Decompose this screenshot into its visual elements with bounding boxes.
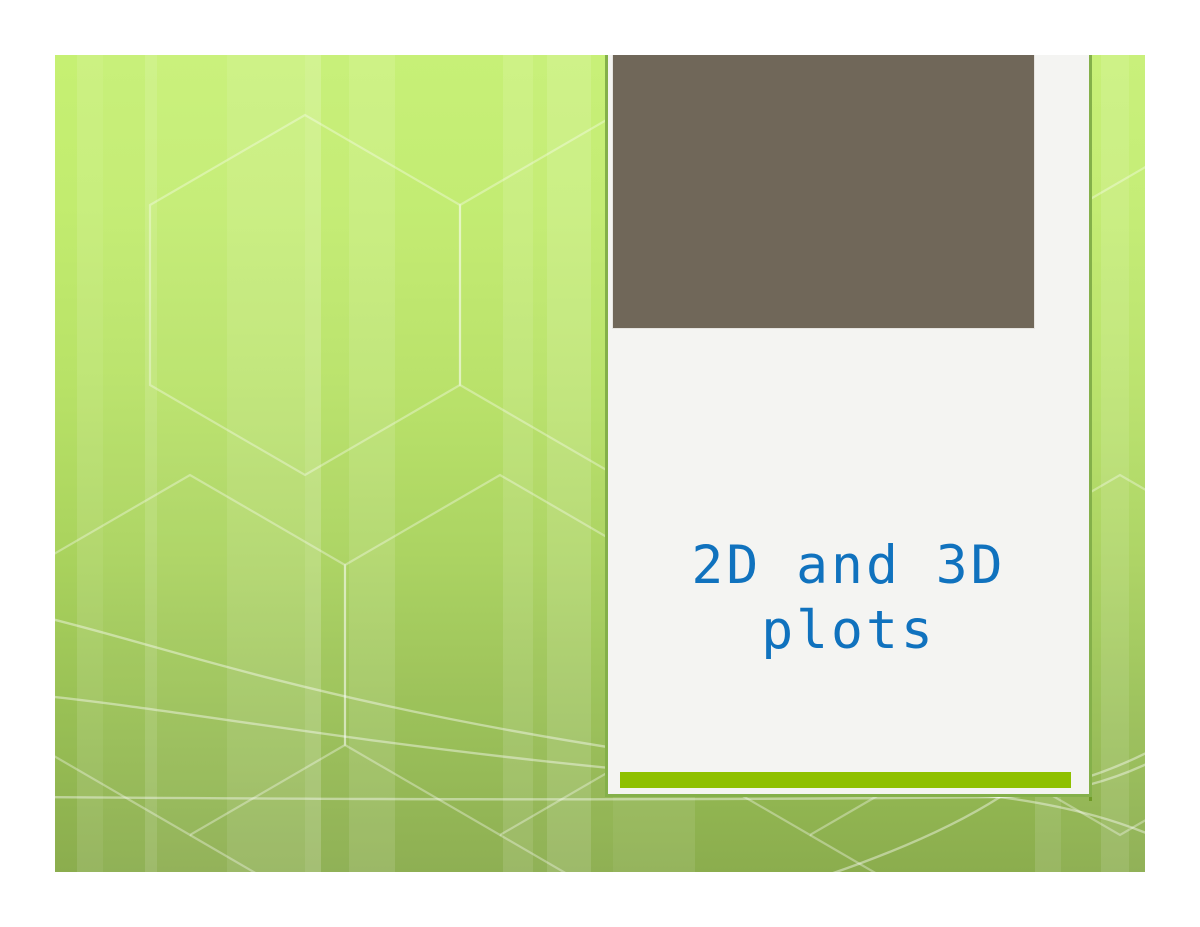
slide-canvas: 2D and 3D plots: [55, 55, 1145, 872]
image-placeholder-block: [612, 55, 1035, 329]
slide-title: 2D and 3D plots: [626, 534, 1071, 663]
accent-bar: [620, 772, 1071, 788]
content-card: 2D and 3D plots: [605, 55, 1092, 797]
